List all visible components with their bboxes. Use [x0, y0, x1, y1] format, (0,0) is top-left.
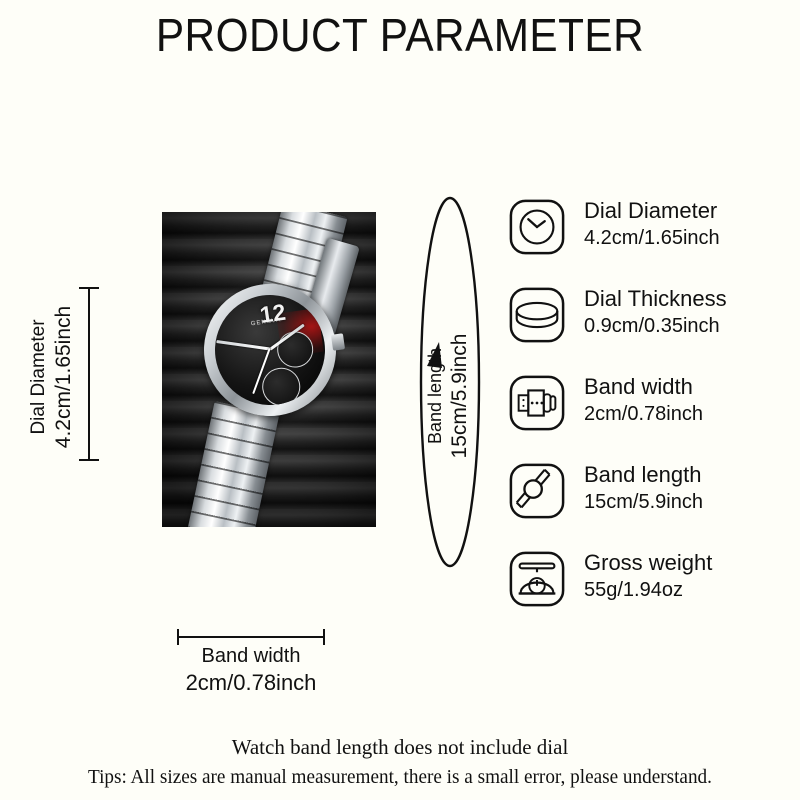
spec-row-band-length: Band length 15cm/5.9inch [508, 460, 788, 548]
dimension-cap-right [323, 629, 325, 645]
spec-name: Dial Thickness [584, 285, 727, 313]
dial-diameter-dimension-line [88, 287, 90, 461]
spec-value: 15cm/5.9inch [584, 489, 703, 516]
belt-buckle-icon [508, 374, 566, 432]
band-length-callout-value: 15cm/5.9inch [447, 296, 472, 496]
spec-text-band-length: Band length 15cm/5.9inch [584, 460, 703, 516]
spec-text-dial-thickness: Dial Thickness 0.9cm/0.35inch [584, 284, 727, 340]
dimension-cap-left [177, 629, 179, 645]
spec-name: Gross weight [584, 549, 712, 577]
spec-row-gross-weight: Gross weight 55g/1.94oz [508, 548, 788, 636]
footer-notes: Watch band length does not include dial … [0, 732, 800, 792]
spec-name: Dial Diameter [584, 197, 720, 225]
band-width-callout-value: 2cm/0.78inch [150, 669, 352, 696]
band-length-callout-label: Band length [424, 296, 447, 496]
spec-row-band-width: Band width 2cm/0.78inch [508, 372, 788, 460]
page-title: PRODUCT PARAMETER [32, 8, 768, 62]
product-photo: GENEVA 12 [162, 212, 376, 527]
band-width-callout-label: Band width [150, 644, 352, 669]
spec-value: 0.9cm/0.35inch [584, 313, 727, 340]
spec-text-gross-weight: Gross weight 55g/1.94oz [584, 548, 712, 604]
kitchen-scale-icon [508, 550, 566, 608]
spec-list: Dial Diameter 4.2cm/1.65inch Dial Thickn… [508, 196, 788, 636]
spec-value: 55g/1.94oz [584, 577, 712, 604]
product-parameter-infographic: PRODUCT PARAMETER GENEVA 12 [0, 0, 800, 800]
dial-subdial-bottom [260, 365, 303, 408]
footer-note-band-length: Watch band length does not include dial [0, 732, 800, 762]
spec-row-dial-thickness: Dial Thickness 0.9cm/0.35inch [508, 284, 788, 372]
dimension-cap-top [79, 287, 99, 289]
disc-thickness-icon [508, 286, 566, 344]
spec-value: 2cm/0.78inch [584, 401, 703, 428]
spec-name: Band width [584, 373, 703, 401]
minute-hand [216, 340, 270, 350]
footer-note-tips: Tips: All sizes are manual measurement, … [16, 762, 784, 792]
spec-text-dial-diameter: Dial Diameter 4.2cm/1.65inch [584, 196, 720, 252]
dial-diameter-callout-label: Dial Diameter [26, 282, 51, 472]
dial-numeral-12: 12 [258, 299, 287, 329]
band-width-dimension-line [177, 636, 325, 638]
dial-diameter-callout: Dial Diameter 4.2cm/1.65inch [26, 92, 82, 282]
dial-diameter-callout-value: 4.2cm/1.65inch [51, 282, 77, 472]
spec-row-dial-diameter: Dial Diameter 4.2cm/1.65inch [508, 196, 788, 284]
band-width-callout: Band width 2cm/0.78inch [150, 644, 352, 696]
band-length-callout: Band length 15cm/5.9inch [424, 96, 480, 296]
spec-value: 4.2cm/1.65inch [584, 225, 720, 252]
watch-dial: GENEVA 12 [208, 288, 332, 412]
dimension-cap-bottom [79, 459, 99, 461]
spec-name: Band length [584, 461, 703, 489]
watch-strap-icon [508, 462, 566, 520]
watch-crown [331, 333, 345, 351]
spec-text-band-width: Band width 2cm/0.78inch [584, 372, 703, 428]
watch-dial-clock-icon [508, 198, 566, 256]
